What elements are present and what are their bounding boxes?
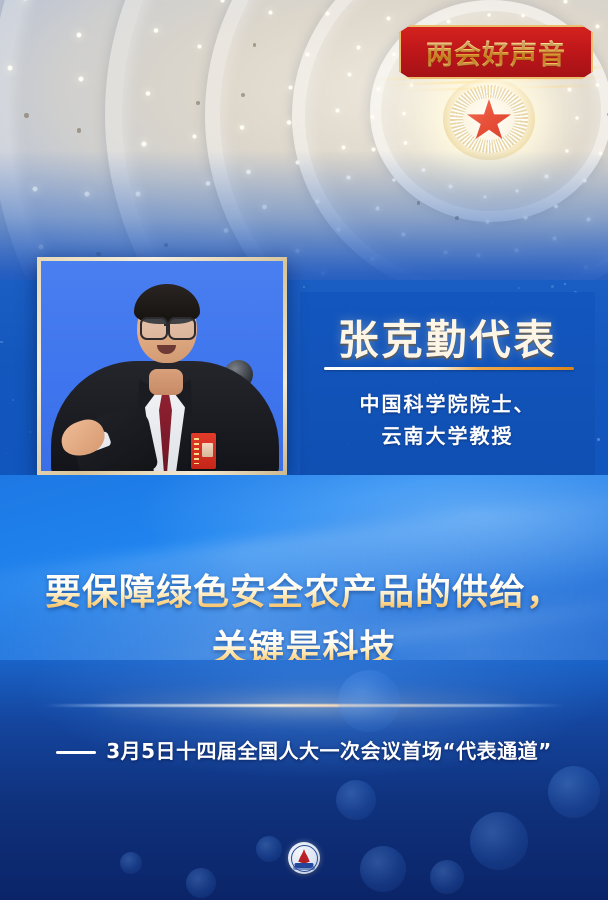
background-sparkle [0,341,2,343]
portrait-frame [37,257,287,475]
two-sessions-banner: 两会好声音 [399,25,593,79]
ceiling-lamp-dot [575,116,580,121]
ceiling-lamp-dot [356,45,361,50]
panel-divider [324,367,574,370]
eyeglass-bridge [164,324,170,326]
ceiling-lamp-dot [7,65,13,71]
ceiling-lamp-dot [563,0,568,4]
background-sparkle [564,283,566,285]
ceiling-lamp-dot [197,44,203,50]
ceiling-lamp-dot [77,128,81,132]
ceiling-lamp-dot [220,0,226,3]
ceiling-lamp-dot [341,145,346,150]
ceiling-lamp-dot [567,87,572,92]
ceiling-lamp-dot [595,24,600,29]
ceiling-lamp-dot [253,43,257,47]
ceiling-lamp-dot [487,13,492,18]
ceiling-lamp-dot [370,115,375,120]
background-sparkle [30,431,32,433]
bokeh-circle [470,812,528,870]
bokeh-circle [360,846,406,892]
ceiling-lamp-dot [386,16,391,21]
background-sparkle [6,453,7,454]
profile-panel: 张克勤代表 中国科学院院士、 云南大学教授 [300,292,595,475]
bokeh-circle [256,836,282,862]
delegate-title-line-2: 云南大学教授 [300,420,595,449]
bokeh-circle [120,852,142,874]
logo-band [293,866,315,870]
quote-line-1: 要保障绿色安全农产品的供给， [0,563,608,615]
event-caption: 3月5日十四届全国人大一次会议首场“代表通道” [0,735,608,764]
delegate-title-line-1: 中国科学院院士、 [300,388,595,417]
ceiling-lamp-dot [268,10,273,15]
eyeglass-right [168,317,196,340]
ceiling-lamp-dot [141,141,147,147]
ceiling-lamp-dot [347,72,352,77]
portrait-neck [149,369,183,395]
ceiling-lamp-dot [595,83,600,88]
bokeh-circle [338,670,400,732]
background-sparkle [303,286,305,288]
ceiling-lamp-dot [196,101,200,105]
ceiling-lamp-dot [325,11,330,16]
ceiling-lamp-dot [335,108,340,113]
ceiling-lamp-dot [241,93,245,97]
ceiling-lamp-dot [239,125,244,130]
ceiling-lamp-dot [402,111,407,116]
portrait-photo [41,261,283,471]
ceiling-lamp-dot [286,120,291,125]
bokeh-circle [336,780,376,820]
ceiling-lamp-dot [76,32,82,38]
ceiling-lamp-dot [305,52,310,57]
ceiling-lamp-dot [24,113,29,118]
ceiling-lamp-dot [192,134,198,140]
banner-label: 两会好声音 [426,33,566,72]
caption-dash [56,751,96,754]
credential-badge-icon [191,433,216,469]
ceiling-lamp-dot [78,76,84,82]
ceiling-lamp-dot [22,0,28,1]
ceiling-lamp-dot [446,19,451,24]
background-sparkle [551,285,554,288]
delegate-name: 张克勤代表 [300,306,595,366]
ceiling-lamp-dot [521,13,526,18]
background-sparkle [12,399,14,401]
xinhua-logo-icon [288,842,320,874]
ceiling-lamp-dot [403,141,408,146]
ceiling-lamp-dot [288,85,293,90]
light-streak [44,704,564,707]
bokeh-circle [430,860,464,894]
background-sparkle [518,287,520,289]
ceiling-lamp-dot [409,83,414,88]
ceiling-lamp-dot [145,91,151,97]
caption-text: 3月5日十四届全国人大一次会议首场“代表通道” [106,739,552,763]
ceiling-lamp-dot [153,28,159,34]
background-sparkle [597,438,600,441]
ceiling-lamp-dot [392,52,397,57]
bokeh-circle [186,868,216,898]
poster-root: 两会好声音 张克勤代表 中国科学院院士、 云南大学教授 [0,0,608,900]
bokeh-circle [548,766,600,818]
ceiling-lamp-dot [376,87,381,92]
eyeglass-left [140,317,168,340]
